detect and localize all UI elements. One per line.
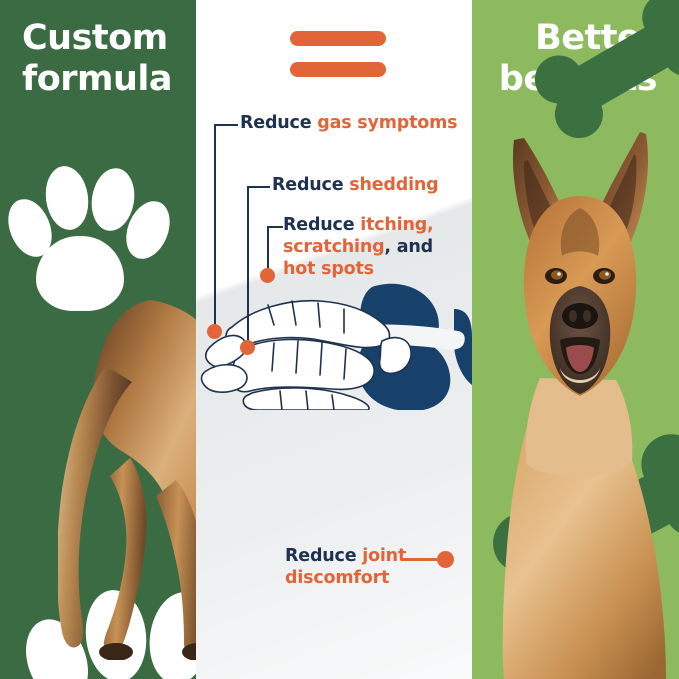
callout-text-plain: Reduce [285,546,362,566]
infographic-canvas: Custom formula [0,0,679,679]
callout-line: Reduce itching, [283,214,468,236]
marker-dot-itching [260,268,275,283]
orange-bar-bottom [290,62,386,77]
left-heading-line-2: formula [22,59,192,100]
callout-text-plain: Reduce [272,175,349,195]
callout-line: discomfort [285,567,445,589]
paw-print-icon [6,148,146,313]
leader-line-gas-horizontal [214,124,238,126]
left-heading-line-1: Custom [22,18,192,59]
callout-shedding: Reduce shedding [272,174,477,196]
left-panel-heading: Custom formula [22,18,192,101]
leader-line-shedding-horizontal [247,186,270,188]
leader-line-itching-horizontal [267,226,283,228]
dog-photo-front [484,100,679,679]
callout-text-highlight: hot spots [283,259,374,279]
callout-text-highlight: joint [362,546,406,566]
callout-gas-symptoms: Reduce gas symptoms [240,112,475,134]
callout-text-highlight: shedding [349,175,438,195]
callout-text-plain: , and [384,237,433,257]
callout-joint-discomfort: Reduce joint discomfort [285,545,445,589]
digestive-tract-illustration [196,275,472,410]
callout-text-highlight: discomfort [285,568,389,588]
leader-line-shedding-vertical [247,186,249,347]
left-panel: Custom formula [0,0,200,679]
leader-line-gas-vertical [214,124,216,332]
callout-line: hot spots [283,258,468,280]
callout-line: scratching, and [283,236,468,258]
callout-text-highlight: gas symptoms [317,113,457,133]
callout-text-plain: Reduce [240,113,317,133]
marker-dot-gas [207,324,222,339]
callout-line: Reduce joint [285,545,445,567]
callout-line: Reduce gas symptoms [240,112,475,134]
callout-text-highlight: itching, [360,215,433,235]
callout-itching: Reduce itching, scratching, and hot spot… [283,214,468,280]
callout-text-plain: Reduce [283,215,360,235]
callout-text-highlight: scratching [283,237,384,257]
leader-line-itching-vertical [267,226,269,274]
right-panel: Better benefits [472,0,679,679]
marker-dot-shedding [240,340,255,355]
callout-line: Reduce shedding [272,174,477,196]
orange-bar-top [290,31,386,46]
